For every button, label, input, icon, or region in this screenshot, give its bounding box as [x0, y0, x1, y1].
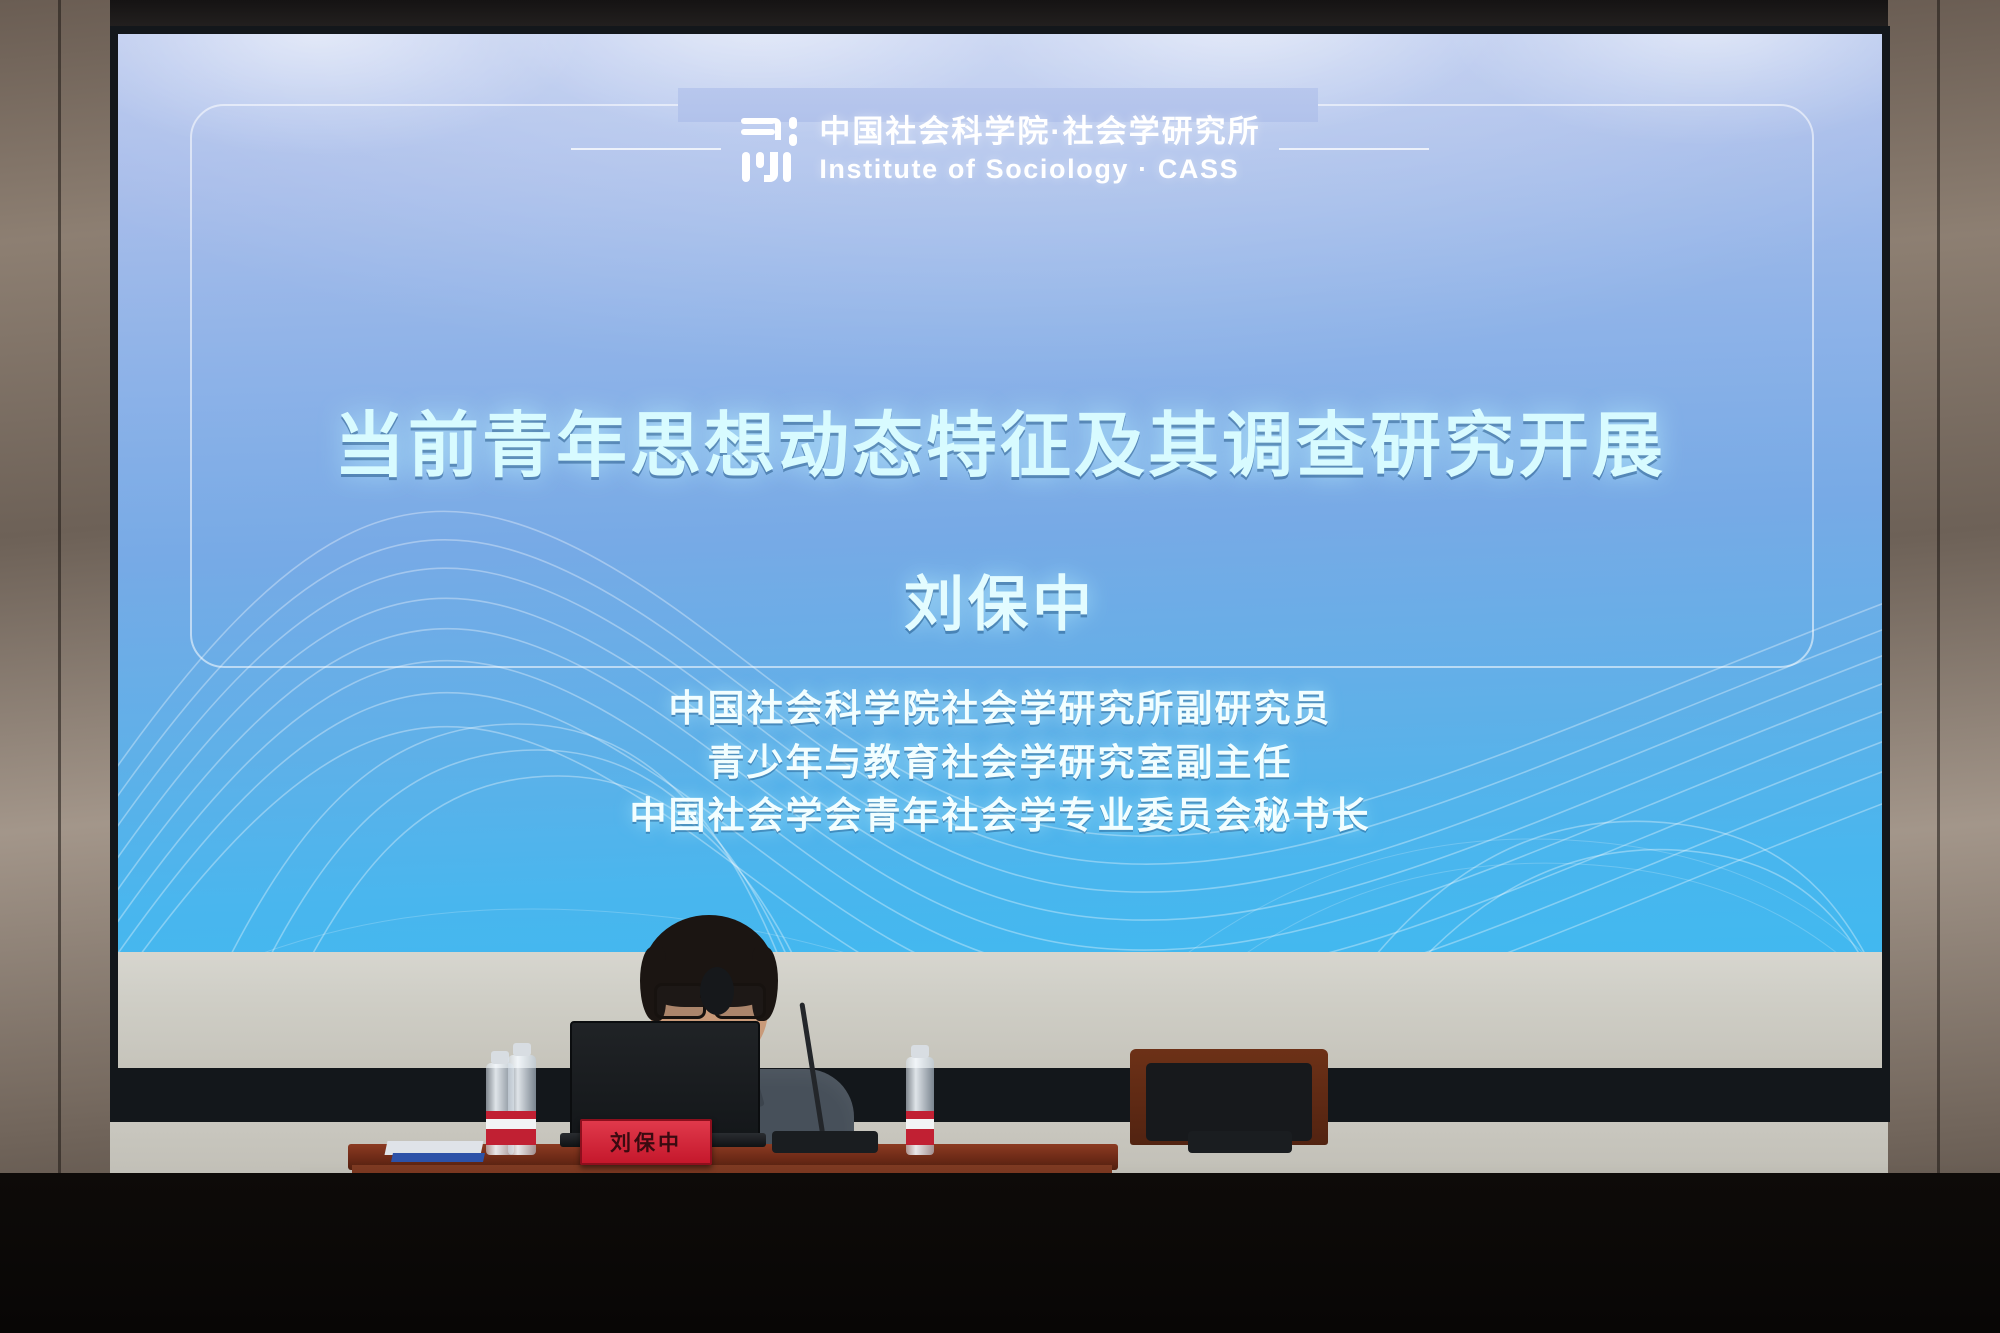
- org-name-cn: 中国社会科学院·社会学研究所: [819, 116, 1260, 147]
- water-bottle: [906, 1057, 934, 1155]
- slide-header: 中国社会科学院·社会学研究所 Institute of Sociology · …: [118, 112, 1882, 186]
- conference-unit: [1188, 1131, 1292, 1153]
- chair-seatback: [1146, 1063, 1312, 1141]
- desk-nameplate-text: 刘保中: [610, 1127, 682, 1157]
- cass-sociology-logo-icon: [739, 112, 801, 186]
- glasses-lens: [654, 983, 706, 1019]
- slide-affiliations: 中国社会科学院社会学研究所副研究员 青少年与教育社会学研究室副主任 中国社会学会…: [118, 682, 1882, 843]
- header-rule-right: [1279, 148, 1429, 150]
- bottle-cap: [911, 1045, 929, 1058]
- org-name-en: Institute of Sociology · CASS: [819, 156, 1239, 183]
- bottle-label-stripe: [508, 1119, 536, 1129]
- header-rule-left: [571, 148, 721, 150]
- affiliation-line: 青少年与教育社会学研究室副主任: [118, 736, 1882, 790]
- desk-nameplate: 刘保中: [580, 1119, 712, 1165]
- affiliation-line: 中国社会学会青年社会学专业委员会秘书长: [118, 789, 1882, 843]
- water-bottle: [508, 1055, 536, 1155]
- bottle-cap: [491, 1051, 509, 1064]
- bottle-label-stripe: [906, 1119, 934, 1129]
- lecture-hall-scene: 中国社会科学院·社会学研究所 Institute of Sociology · …: [0, 0, 2000, 1333]
- slide-title: 当前青年思想动态特征及其调查研究开展: [118, 389, 1882, 491]
- papers-stack: [391, 1153, 485, 1162]
- slide-speaker-name: 刘保中: [118, 556, 1882, 643]
- header-org-text: 中国社会科学院·社会学研究所 Institute of Sociology · …: [819, 116, 1260, 183]
- floor: [0, 1173, 2000, 1333]
- bottle-cap: [513, 1043, 531, 1056]
- conference-unit: [772, 1131, 878, 1153]
- microphone-head: [700, 967, 734, 1015]
- affiliation-line: 中国社会科学院社会学研究所副研究员: [118, 682, 1882, 736]
